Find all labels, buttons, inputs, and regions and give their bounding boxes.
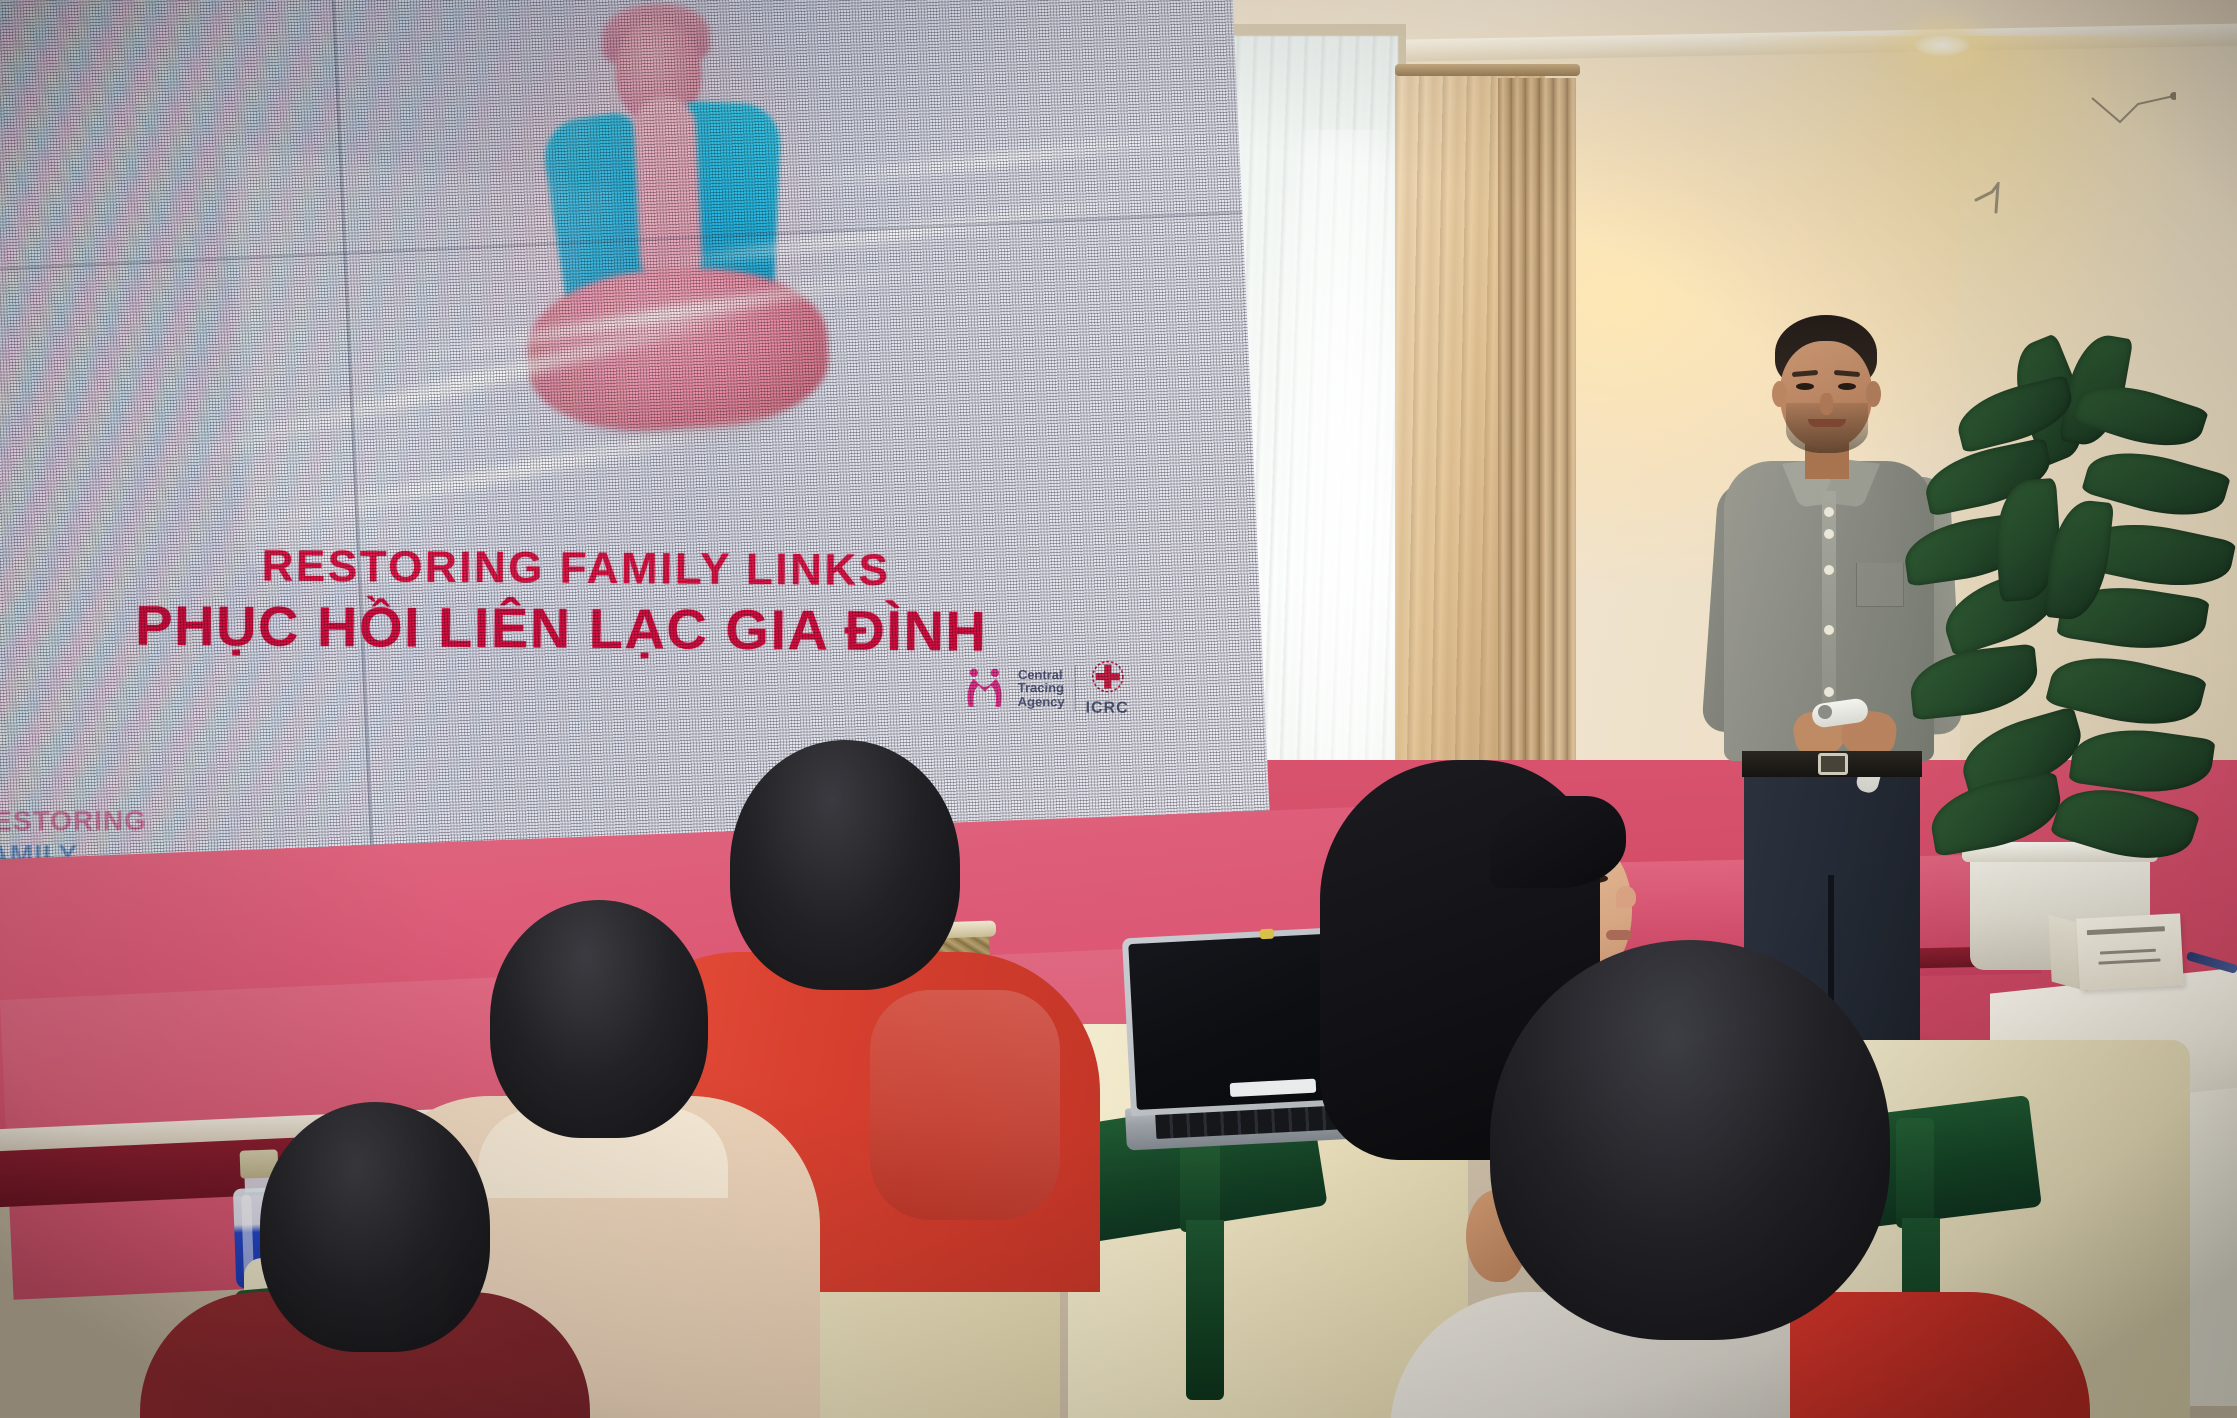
cta-wordmark: Central Tracing Agency <box>1018 668 1065 709</box>
icrc-wordmark: ICRC <box>1086 699 1129 717</box>
belt-buckle <box>1818 753 1848 775</box>
attendee-foreground <box>1430 940 1990 1418</box>
ceiling-downlight-icon <box>1915 34 1969 56</box>
icrc-logo: ICRC <box>1086 659 1130 717</box>
cta-line-2: Tracing <box>1018 681 1065 695</box>
window-daylight <box>1280 130 1410 850</box>
wall-hook-icon <box>1972 182 2016 214</box>
presenter-shirt-pocket <box>1856 563 1904 607</box>
slide-title-english: RESTORING FAMILY LINKS <box>262 542 1122 598</box>
cta-line-3: Agency <box>1018 695 1065 709</box>
central-tracing-agency-icon <box>962 665 1008 711</box>
corner-logo-line-1: RESTORING <box>0 805 162 838</box>
red-cross-emblem-icon <box>1090 660 1124 694</box>
led-video-wall: RESTORING FAMILY LINKS PHỤC HỒI LIÊN LẠC… <box>0 0 1271 899</box>
logo-divider <box>1075 665 1076 711</box>
laptop-webcam-icon <box>1260 929 1275 940</box>
potted-plant <box>1900 330 2237 950</box>
curtain-rod <box>1395 64 1580 76</box>
attendee-maroon-shirt <box>140 1112 580 1418</box>
tent-card <box>2076 913 2184 990</box>
slide-logo-lockup: Central Tracing Agency ICRC <box>961 645 1182 733</box>
photo-scene: RESTORING FAMILY LINKS PHỤC HỒI LIÊN LẠC… <box>0 0 2237 1418</box>
wall-wire-icon <box>2090 92 2176 132</box>
